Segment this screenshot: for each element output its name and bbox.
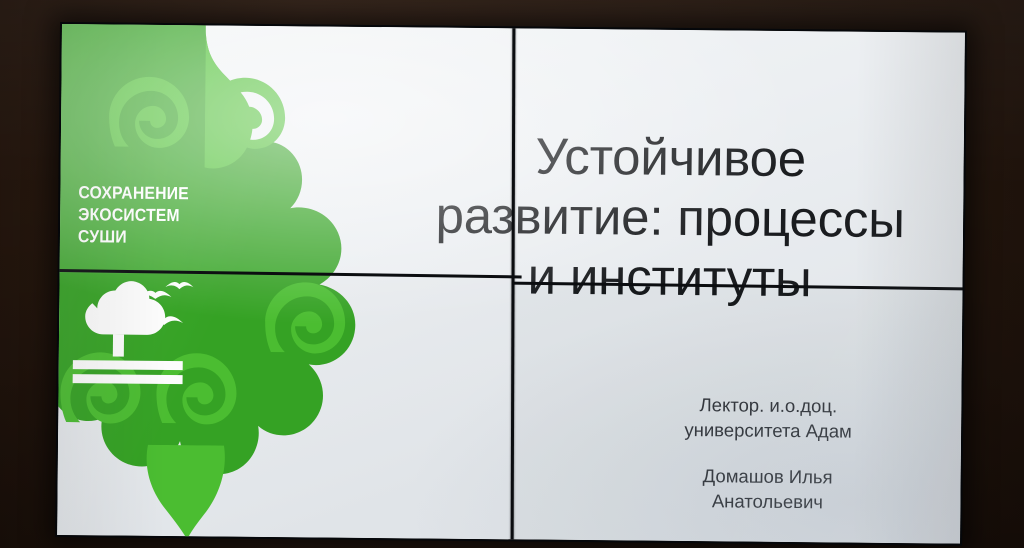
- title-line-1: Устойчивое: [390, 125, 951, 190]
- presentation-slide: СОХРАНЕНИЕ ЭКОСИСТЕМ СУШИ: [57, 24, 965, 544]
- subtitle-line-3: Домашов Илья: [618, 462, 918, 490]
- tree-birds-ground-icon: [73, 278, 210, 389]
- bird-icon: [165, 282, 193, 289]
- title-line-3: и институты: [389, 245, 950, 310]
- slide-subtitle: Лектор. и.о.доц. университета Адам Домаш…: [617, 391, 918, 515]
- subtitle-block-role: Лектор. и.о.доц. университета Адам: [618, 391, 918, 444]
- logo-text-block: СОХРАНЕНИЕ ЭКОСИСТЕМ СУШИ: [78, 181, 289, 249]
- video-wall-screen: СОХРАНЕНИЕ ЭКОСИСТЕМ СУШИ: [57, 24, 965, 544]
- subtitle-line-1: Лектор. и.о.доц.: [618, 391, 918, 419]
- logo-line-2: ЭКОСИСТЕМ: [78, 203, 267, 227]
- logo-line-1: СОХРАНЕНИЕ: [78, 181, 267, 205]
- screen-surface: СОХРАНЕНИЕ ЭКОСИСТЕМ СУШИ: [57, 24, 965, 544]
- logo-line-3: СУШИ: [78, 225, 267, 249]
- title-line-2: развитие: процессы: [390, 185, 951, 250]
- subtitle-line-4: Анатольевич: [617, 487, 917, 515]
- subtitle-block-name: Домашов Илья Анатольевич: [617, 462, 917, 515]
- slide-title: Устойчивое развитие: процессы и институт…: [389, 125, 951, 310]
- subtitle-line-2: университета Адам: [618, 416, 918, 444]
